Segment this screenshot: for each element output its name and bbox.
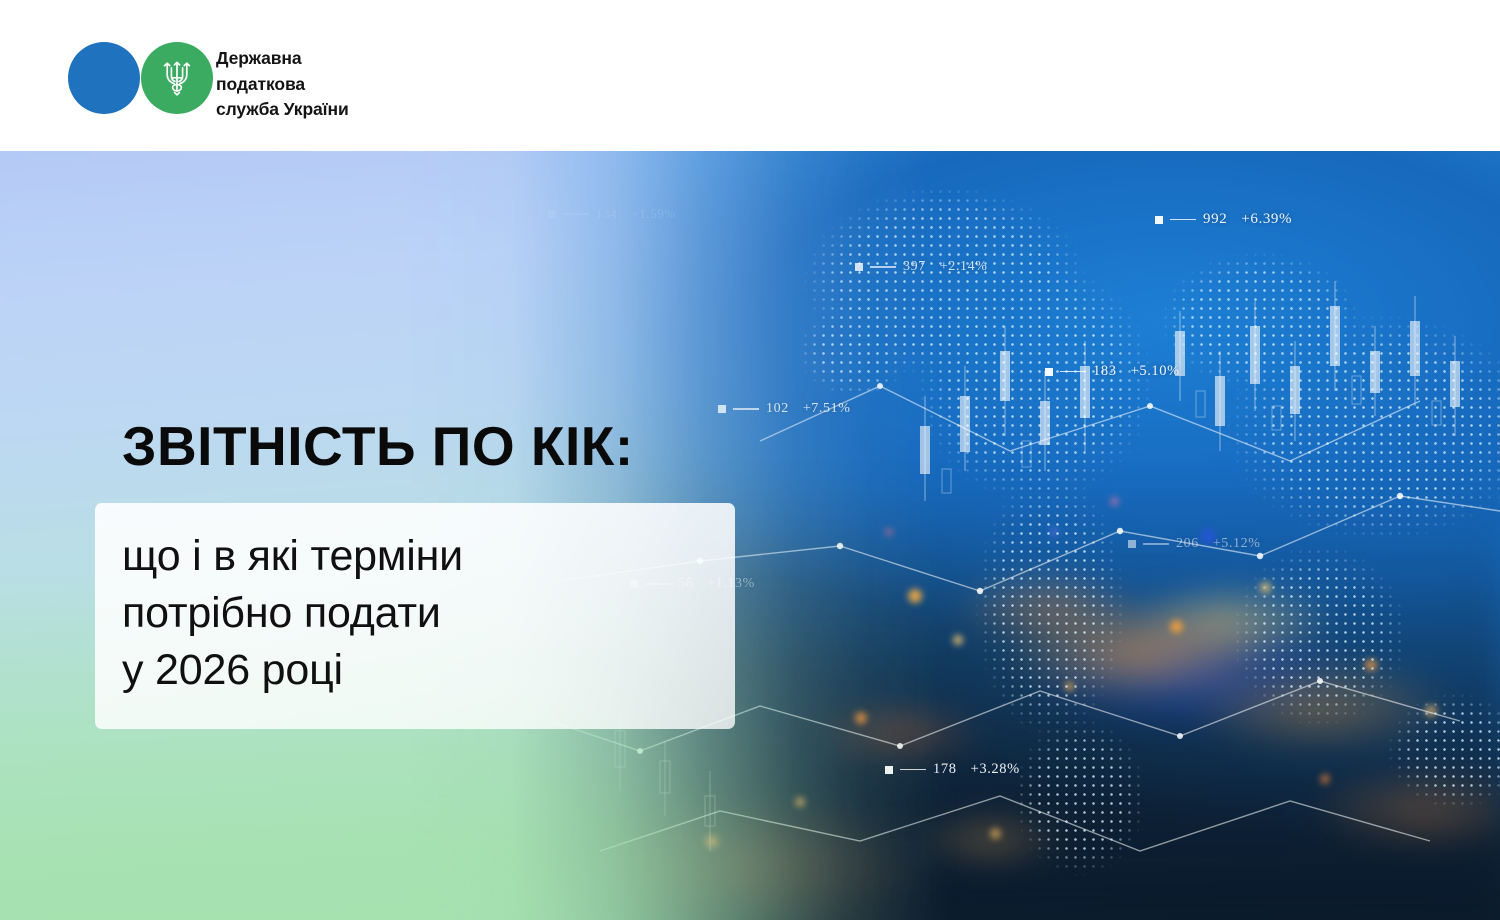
page-title: ЗВІТНІСТЬ ПО КІК:	[122, 416, 634, 476]
header-bar: Державна податкова служба України	[0, 0, 1500, 151]
poster-canvas: 992 +6.39% 397 +2.14% 183 +5.10%	[0, 0, 1500, 920]
green-circle-icon	[141, 42, 213, 114]
blue-circle-icon	[68, 42, 140, 114]
logo-marks	[68, 42, 213, 114]
logo-text: Державна податкова служба України	[216, 42, 349, 123]
page-subtitle: що і в які терміни потрібно подати у 202…	[122, 528, 463, 699]
organization-logo[interactable]: Державна податкова служба України	[68, 42, 349, 123]
ukrainian-trident-icon	[160, 58, 194, 98]
